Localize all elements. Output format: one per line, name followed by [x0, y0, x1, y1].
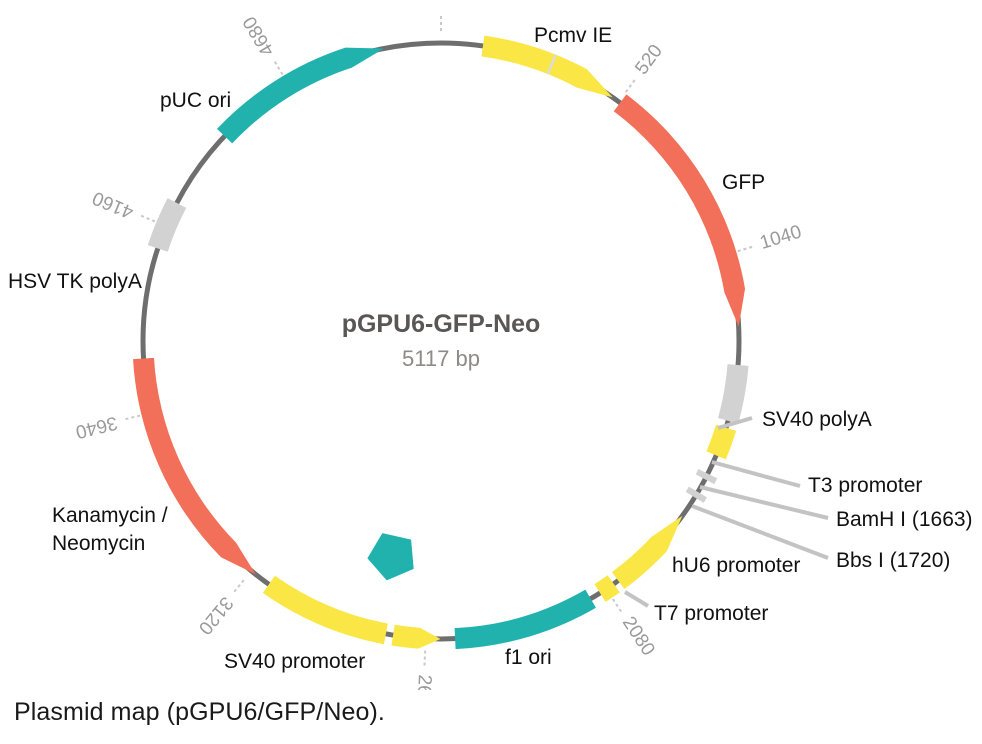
inner-markers [367, 533, 413, 580]
feature-label-hu6-promoter: hU6 promoter [672, 554, 800, 577]
leader-line [625, 592, 648, 606]
tick-mark [273, 59, 282, 74]
tick-mark [613, 599, 623, 614]
plasmid-map-figure: 5201040208026003120364041604680 Pcmv IEG… [0, 0, 982, 744]
feature-t3-promoter[interactable] [706, 425, 736, 460]
figure-caption: Plasmid map (pGPU6/GFP/Neo). [14, 698, 385, 727]
plasmid-map-svg: 5201040208026003120364041604680 Pcmv IEG… [0, 0, 982, 690]
feature-sv40-promoter[interactable] [263, 576, 388, 644]
feature-label-gfp: GFP [722, 171, 765, 194]
feature-label-sv40-polya: SV40 polyA [762, 408, 872, 431]
plasmid-size: 5117 bp [402, 346, 480, 371]
feature-sv40-polya[interactable] [718, 364, 748, 423]
tick-label: 1040 [758, 222, 805, 254]
feature-f1-ori[interactable] [455, 590, 596, 650]
tick-label: 4680 [239, 12, 279, 59]
feature-unnamed-9[interactable] [391, 625, 440, 649]
feature-label-pcmv-ie: Pcmv IE [534, 24, 612, 47]
plasmid-name: pGPU6-GFP-Neo [342, 310, 541, 338]
tick-mark [738, 246, 755, 251]
tick-label: 4160 [90, 187, 137, 223]
feature-label-bamh-i-1663: BamH I (1663) [836, 508, 973, 531]
tick-label: 3640 [73, 412, 119, 443]
plasmid-features [133, 36, 748, 650]
tick-label: 3120 [194, 592, 237, 638]
tick-mark [138, 215, 155, 222]
feature-gfp[interactable] [614, 94, 745, 326]
feature-label-sv40-promoter: SV40 promoter [224, 650, 365, 673]
feature-label-f1-ori: f1 ori [505, 646, 552, 669]
tick-mark [424, 651, 425, 669]
tick-label: 2080 [618, 613, 659, 660]
tick-mark [626, 78, 637, 92]
leader-line [712, 462, 800, 486]
feature-label-kanamycin: Kanamycin / [52, 504, 168, 527]
inner-marker-pentagon[interactable] [367, 533, 413, 580]
tick-label: 2600 [412, 674, 435, 690]
feature-label-hsv-tk-polya: HSV TK polyA [8, 270, 142, 293]
feature-labels: Pcmv IEGFPSV40 polyAT3 promoterBamH I (1… [8, 24, 973, 673]
feature-puc-ori[interactable] [217, 48, 384, 144]
tick-mark [232, 580, 243, 594]
feature-label-bbs-i-1720: Bbs I (1720) [836, 549, 950, 572]
tick-label: 520 [631, 41, 667, 79]
feature-kanamycin-neomycin[interactable] [133, 358, 256, 575]
feature-label-puc-ori: pUC ori [160, 89, 231, 112]
feature-hu6-promoter[interactable] [612, 516, 682, 589]
feature-label-t3-promoter: T3 promoter [808, 474, 922, 497]
tick-mark [123, 416, 140, 420]
feature-hsv-tk-polya[interactable] [148, 198, 186, 252]
feature-label-neomycin: Neomycin [52, 532, 145, 555]
feature-label-t7-promoter: T7 promoter [654, 602, 768, 625]
